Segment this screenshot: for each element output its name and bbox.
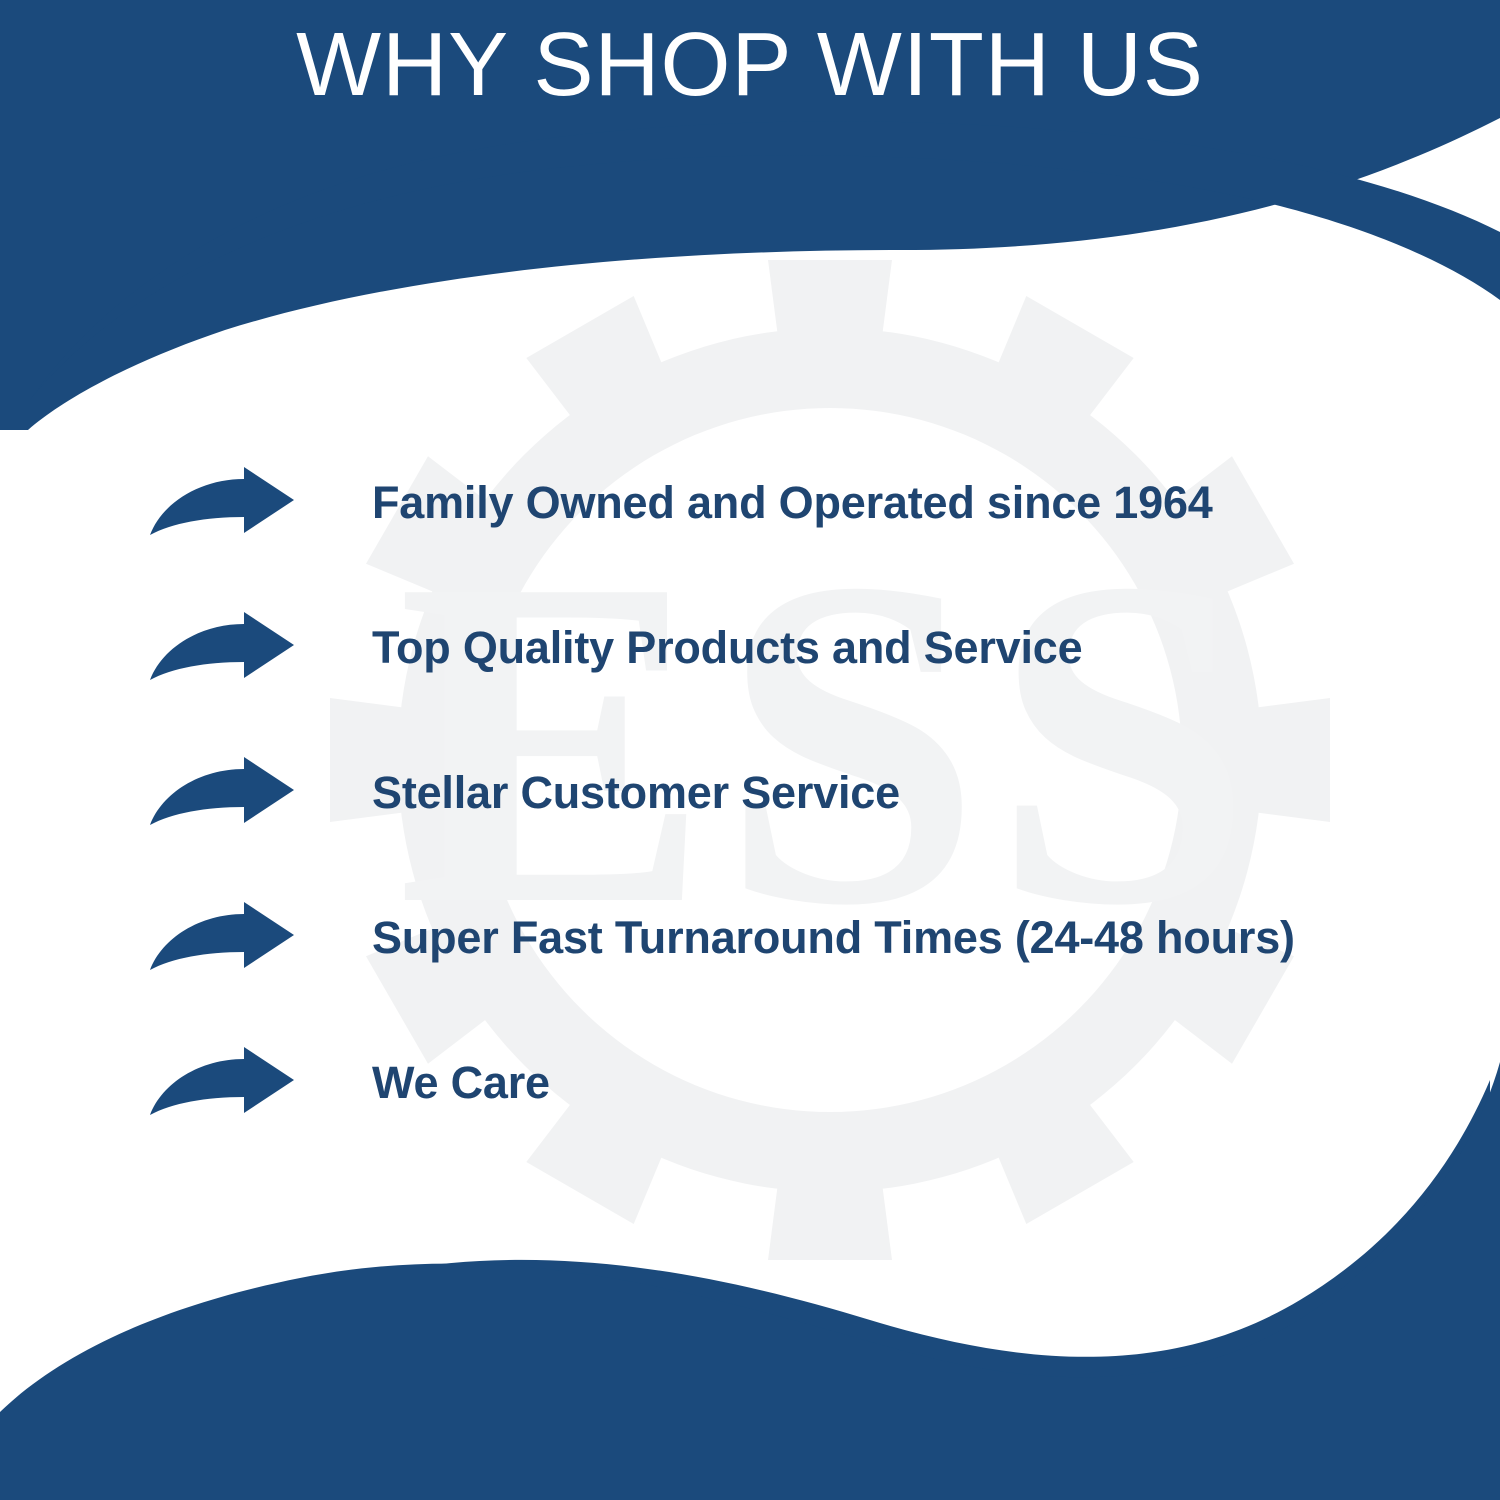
curved-arrow-right-icon <box>148 467 298 539</box>
curved-arrow-right-icon <box>148 757 298 829</box>
list-item: Stellar Customer Service <box>0 720 1500 865</box>
wave-top-swoosh <box>30 121 1500 400</box>
list-item-label: Super Fast Turnaround Times (24-48 hours… <box>372 912 1500 964</box>
list-item-label: We Care <box>372 1057 1500 1109</box>
list-item-label: Top Quality Products and Service <box>372 622 1500 674</box>
header: WHY SHOP WITH US <box>0 0 1500 150</box>
list-item-label: Stellar Customer Service <box>372 767 1500 819</box>
list-item: Super Fast Turnaround Times (24-48 hours… <box>0 865 1500 1010</box>
list-item: We Care <box>0 1010 1500 1155</box>
curved-arrow-right-icon <box>148 1047 298 1119</box>
benefits-list: Family Owned and Operated since 1964 Top… <box>0 430 1500 1155</box>
page-title: WHY SHOP WITH US <box>296 0 1204 113</box>
list-item: Family Owned and Operated since 1964 <box>0 430 1500 575</box>
list-item-label: Family Owned and Operated since 1964 <box>372 477 1500 529</box>
curved-arrow-right-icon <box>148 612 298 684</box>
list-item: Top Quality Products and Service <box>0 575 1500 720</box>
why-shop-with-us-poster: ESS WHY SHOP WITH US <box>0 0 1500 1500</box>
curved-arrow-right-icon <box>148 902 298 974</box>
